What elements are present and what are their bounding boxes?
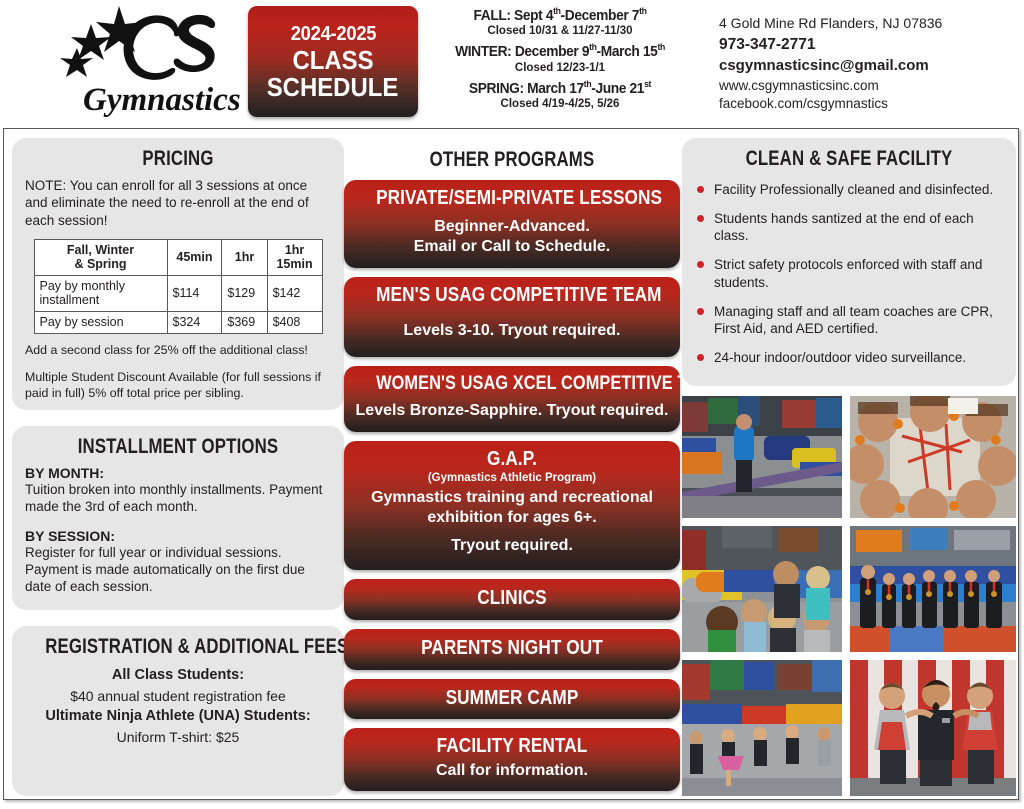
bullet-dot-icon (697, 261, 704, 268)
row-monthly-label-line2: installment (40, 293, 100, 307)
program-title: G.A.P. (376, 449, 648, 471)
by-month-label: BY MONTH: (12, 465, 344, 481)
by-month-text: Tuition broken into monthly installments… (12, 481, 344, 516)
table-row: Pay by monthly installment $114 $129 $14… (34, 275, 322, 312)
class-schedule-banner: 2024-2025 CLASS SCHEDULE (248, 6, 418, 117)
session-winter-title: WINTER: December 9th-March 15th (432, 44, 689, 60)
list-item: Managing staff and all team coaches are … (696, 303, 1002, 337)
program-title: SUMMER CAMP (376, 688, 648, 710)
session-spring: SPRING: March 17th-June 21st Closed 4/19… (425, 81, 695, 111)
session-fall: FALL: Sept 4th-December 7th Closed 10/31… (425, 8, 695, 38)
session-winter-closed: Closed 12/23-1/1 (425, 62, 695, 75)
banner-line1: CLASS (292, 47, 373, 73)
th-45min: 45min (167, 239, 222, 275)
photo-dancers-floor (682, 660, 842, 796)
list-item: Facility Professionally cleaned and disi… (696, 181, 1002, 198)
bullet-dot-icon (697, 215, 704, 222)
program-sub: Levels 3-10. Tryout required. (354, 321, 670, 341)
contact-phone[interactable]: 973-347-2771 (719, 35, 1019, 56)
bullet-dot-icon (697, 308, 704, 315)
facility-bullet-text: 24-hour indoor/outdoor video surveillanc… (714, 350, 966, 365)
th-season-line2: & Spring (74, 257, 126, 271)
program-gap[interactable]: G.A.P. (Gymnastics Athletic Program) Gym… (344, 441, 680, 570)
row-session-45min: $324 (167, 312, 222, 334)
list-item: Strict safety protocols enforced with st… (696, 256, 1002, 290)
program-sub: Levels Bronze-Sapphire. Tryout required. (354, 401, 670, 421)
program-summer-camp[interactable]: SUMMER CAMP (344, 679, 680, 720)
session-winter: WINTER: December 9th-March 15th Closed 1… (425, 44, 695, 74)
program-mens-usag-team[interactable]: MEN'S USAG COMPETITIVE TEAM Levels 3-10.… (344, 277, 680, 357)
facility-bullet-text: Strict safety protocols enforced with st… (714, 257, 982, 289)
contact-website[interactable]: www.csgymnasticsinc.com (719, 77, 1019, 95)
all-class-fee: $40 annual student registration fee (12, 686, 344, 706)
program-parents-night-out[interactable]: PARENTS NIGHT OUT (344, 629, 680, 670)
session-spring-title: SPRING: March 17th-June 21st (432, 81, 689, 97)
registration-title: REGISTRATION & ADDITIONAL FEES (45, 626, 311, 665)
photo-boys-team-medals (850, 526, 1016, 652)
contact-address: 4 Gold Mine Rd Flanders, NJ 07836 (719, 14, 1019, 33)
pricing-second-class-note: Add a second class for 25% off the addit… (12, 334, 344, 359)
program-paren: (Gymnastics Athletic Program) (354, 472, 670, 484)
session-spring-closed: Closed 4/19-4/25, 5/26 (425, 98, 695, 111)
th-season-line1: Fall, Winter (67, 243, 134, 257)
th-season: Fall, Winter & Spring (34, 239, 167, 275)
pricing-panel: PRICING NOTE: You can enroll for all 3 s… (12, 138, 344, 410)
pricing-table: Fall, Winter & Spring 45min 1hr 1hr 15mi… (34, 239, 323, 334)
by-session-text: Register for full year or individual ses… (12, 544, 344, 596)
una-label: Ultimate Ninja Athlete (UNA) Students: (12, 706, 344, 727)
contact-facebook[interactable]: facebook.com/csgymnastics (719, 95, 1019, 113)
list-item: Students hands santized at the end of ea… (696, 210, 1002, 244)
session-fall-closed: Closed 10/31 & 11/27-11/30 (425, 25, 695, 38)
bullet-dot-icon (697, 354, 704, 361)
facility-panel: CLEAN & SAFE FACILITY Facility Professio… (682, 138, 1016, 386)
header: Gymnastics 2024-2025 CLASS SCHEDULE FALL… (0, 0, 1024, 128)
class-schedule-flyer: Gymnastics 2024-2025 CLASS SCHEDULE FALL… (0, 0, 1024, 809)
table-header-row: Fall, Winter & Spring 45min 1hr 1hr 15mi… (34, 239, 322, 275)
row-monthly-label-line1: Pay by monthly (40, 279, 125, 293)
th-1hr15-line1: 1hr (285, 243, 304, 257)
table-row: Pay by session $324 $369 $408 (34, 312, 322, 334)
program-facility-rental[interactable]: FACILITY RENTAL Call for information. (344, 728, 680, 791)
other-programs-title: OTHER PROGRAMS (378, 138, 647, 180)
photo-girls-circle (850, 396, 1016, 518)
row-session-1hr: $369 (222, 312, 267, 334)
program-title: PRIVATE/SEMI-PRIVATE LESSONS (376, 188, 648, 210)
installment-title: INSTALLMENT OPTIONS (45, 426, 311, 465)
list-item: 24-hour indoor/outdoor video surveillanc… (696, 349, 1002, 366)
svg-text:Gymnastics: Gymnastics (83, 82, 241, 118)
session-fall-title: FALL: Sept 4th-December 7th (432, 8, 689, 24)
program-sub: Call for information. (354, 761, 670, 781)
bullet-dot-icon (697, 186, 704, 193)
pricing-title: PRICING (45, 138, 311, 177)
row-monthly-1hr: $129 (222, 275, 267, 312)
photo-beam-walk (682, 396, 842, 518)
facility-bullet-text: Facility Professionally cleaned and disi… (714, 182, 993, 197)
program-womens-xcel-team[interactable]: WOMEN'S USAG XCEL COMPETITIVE TEAM Level… (344, 366, 680, 433)
una-fee: Uniform T-shirt: $25 (12, 727, 344, 747)
th-1hr15-line2: 15min (276, 257, 312, 271)
photo-grid (682, 396, 1016, 796)
program-sub2: Tryout required. (354, 536, 670, 556)
all-class-label: All Class Students: (12, 665, 344, 686)
facility-bullet-text: Students hands santized at the end of ea… (714, 211, 974, 243)
program-clinics[interactable]: CLINICS (344, 579, 680, 620)
program-title: MEN'S USAG COMPETITIVE TEAM (376, 285, 648, 307)
row-monthly-1hr15: $142 (267, 275, 322, 312)
photo-two-gymnasts-with-coach (850, 660, 1016, 796)
row-session-1hr15: $408 (267, 312, 322, 334)
contact-email[interactable]: csgymnasticsinc@gmail.com (719, 56, 1019, 76)
program-title: CLINICS (376, 588, 648, 610)
installment-panel: INSTALLMENT OPTIONS BY MONTH: Tuition br… (12, 426, 344, 610)
program-title: PARENTS NIGHT OUT (376, 638, 648, 660)
spacer (12, 516, 344, 528)
row-monthly-45min: $114 (167, 275, 222, 312)
program-title: WOMEN'S USAG XCEL COMPETITIVE TEAM (376, 374, 648, 395)
facility-bullet-text: Managing staff and all team coaches are … (714, 304, 993, 336)
row-monthly-label: Pay by monthly installment (34, 275, 167, 312)
program-private-lessons[interactable]: PRIVATE/SEMI-PRIVATE LESSONS Beginner-Ad… (344, 180, 680, 268)
by-session-label: BY SESSION: (12, 528, 344, 544)
program-title: FACILITY RENTAL (376, 736, 648, 758)
pricing-sibling-note: Multiple Student Discount Available (for… (12, 359, 344, 402)
row-session-label: Pay by session (34, 312, 167, 334)
registration-panel: REGISTRATION & ADDITIONAL FEES All Class… (12, 626, 344, 796)
program-sub: Gymnastics training and recreational exh… (354, 488, 670, 528)
banner-year: 2024-2025 (290, 24, 376, 44)
banner-line2: SCHEDULE (267, 74, 399, 100)
session-dates: FALL: Sept 4th-December 7th Closed 10/31… (425, 6, 695, 117)
facility-bullet-list: Facility Professionally cleaned and disi… (682, 181, 1016, 366)
other-programs-column: OTHER PROGRAMS PRIVATE/SEMI-PRIVATE LESS… (344, 138, 680, 800)
facility-title: CLEAN & SAFE FACILITY (715, 138, 982, 177)
th-1hr15min: 1hr 15min (267, 239, 322, 275)
contact-info: 4 Gold Mine Rd Flanders, NJ 07836 973-34… (719, 14, 1019, 113)
pricing-note: NOTE: You can enroll for all 3 sessions … (12, 177, 344, 229)
th-1hr: 1hr (222, 239, 267, 275)
cs-gymnastics-logo: Gymnastics (55, 2, 245, 122)
program-sub: Beginner-Advanced.Email or Call to Sched… (354, 217, 670, 257)
photo-girls-group-floor (682, 526, 842, 652)
